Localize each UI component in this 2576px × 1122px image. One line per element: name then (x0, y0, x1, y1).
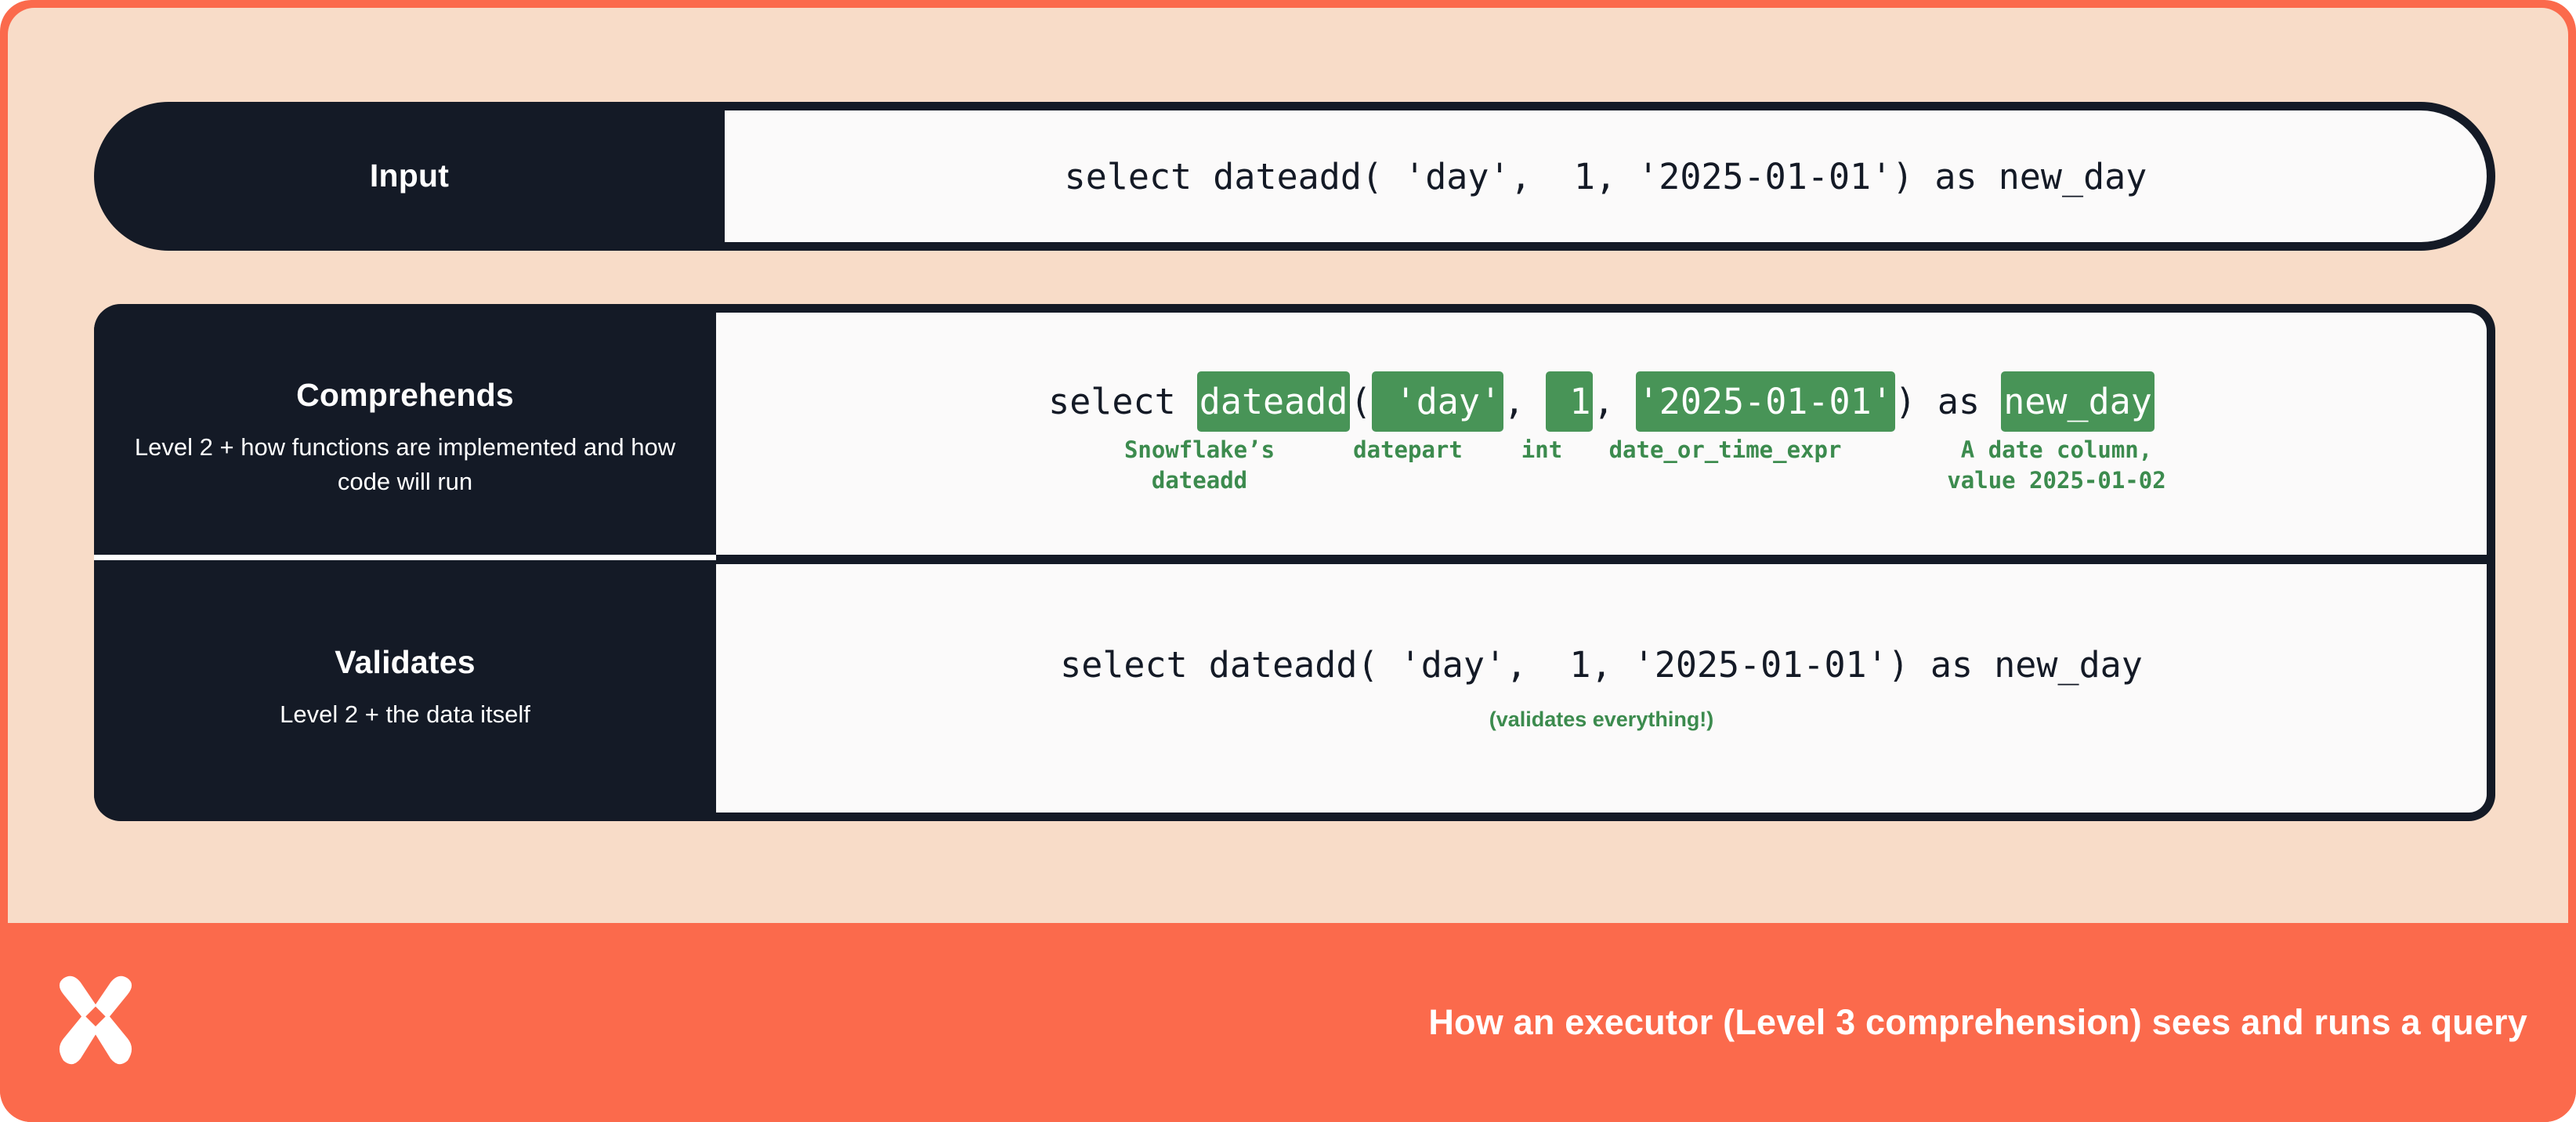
input-label-cell: Input (94, 102, 725, 251)
comprehends-code-cell: select dateadd( 'day', 1, '2025-01-01') … (716, 313, 2487, 563)
code-token: , (1503, 381, 1546, 422)
code-token: ) as (1895, 381, 2001, 422)
levels-table: Comprehends Level 2 + how functions are … (94, 304, 2495, 821)
annotation-label: datepart (1325, 435, 1491, 465)
validates-note: (validates everything!) (1489, 708, 1714, 732)
annotation-label: int (1496, 435, 1588, 465)
row-divider-label-side (94, 555, 716, 560)
footer-bar: How an executor (Level 3 comprehension) … (0, 923, 2576, 1122)
input-code-text: select dateadd( 'day', 1, '2025-01-01') … (1065, 156, 2147, 197)
comprehends-row-subtitle: Level 2 + how functions are implemented … (123, 430, 687, 499)
code-token-highlighted: 'day' (1372, 371, 1504, 432)
validates-row: Validates Level 2 + the data itself sele… (94, 563, 2487, 813)
code-token-highlighted: dateadd (1197, 371, 1351, 432)
comprehends-row-title: Comprehends (296, 377, 514, 414)
code-token: ( (1350, 381, 1371, 422)
code-token: , (1593, 381, 1635, 422)
code-token-highlighted: '2025-01-01' (1636, 371, 1895, 432)
annotation-label: A date column, value 2025-01-02 (1892, 435, 2221, 495)
comprehends-label-cell: Comprehends Level 2 + how functions are … (94, 313, 716, 563)
comprehends-code-text: select dateadd( 'day', 1, '2025-01-01') … (1048, 381, 2155, 422)
code-token: select (1048, 381, 1197, 422)
annotation-label: Snowflake’s dateadd (1082, 435, 1317, 495)
input-row-title: Input (370, 157, 449, 194)
validates-label-cell: Validates Level 2 + the data itself (94, 563, 716, 813)
card-body: Input select dateadd( 'day', 1, '2025-01… (8, 8, 2568, 923)
validates-code-cell: select dateadd( 'day', 1, '2025-01-01') … (716, 563, 2487, 813)
input-code-cell: select dateadd( 'day', 1, '2025-01-01') … (725, 110, 2487, 242)
validates-row-subtitle: Level 2 + the data itself (280, 697, 530, 732)
code-token-highlighted: new_day (2001, 371, 2155, 432)
footer-caption: How an executor (Level 3 comprehension) … (146, 1002, 2576, 1043)
validates-code-text: select dateadd( 'day', 1, '2025-01-01') … (1060, 644, 2143, 686)
row-divider-code-side (716, 555, 2487, 564)
validates-row-title: Validates (335, 644, 476, 681)
infographic-card: Input select dateadd( 'day', 1, '2025-01… (0, 0, 2576, 1122)
x-star-logo (45, 972, 146, 1073)
annotation-label: date_or_time_expr (1596, 435, 1854, 465)
code-token-highlighted: 1 (1546, 371, 1593, 432)
comprehends-row: Comprehends Level 2 + how functions are … (94, 313, 2487, 563)
rows-container: Input select dateadd( 'day', 1, '2025-01… (94, 102, 2495, 821)
input-row: Input select dateadd( 'day', 1, '2025-01… (94, 102, 2495, 251)
comprehends-annotations: Snowflake’s dateadddatepartintdate_or_ti… (982, 435, 2221, 495)
